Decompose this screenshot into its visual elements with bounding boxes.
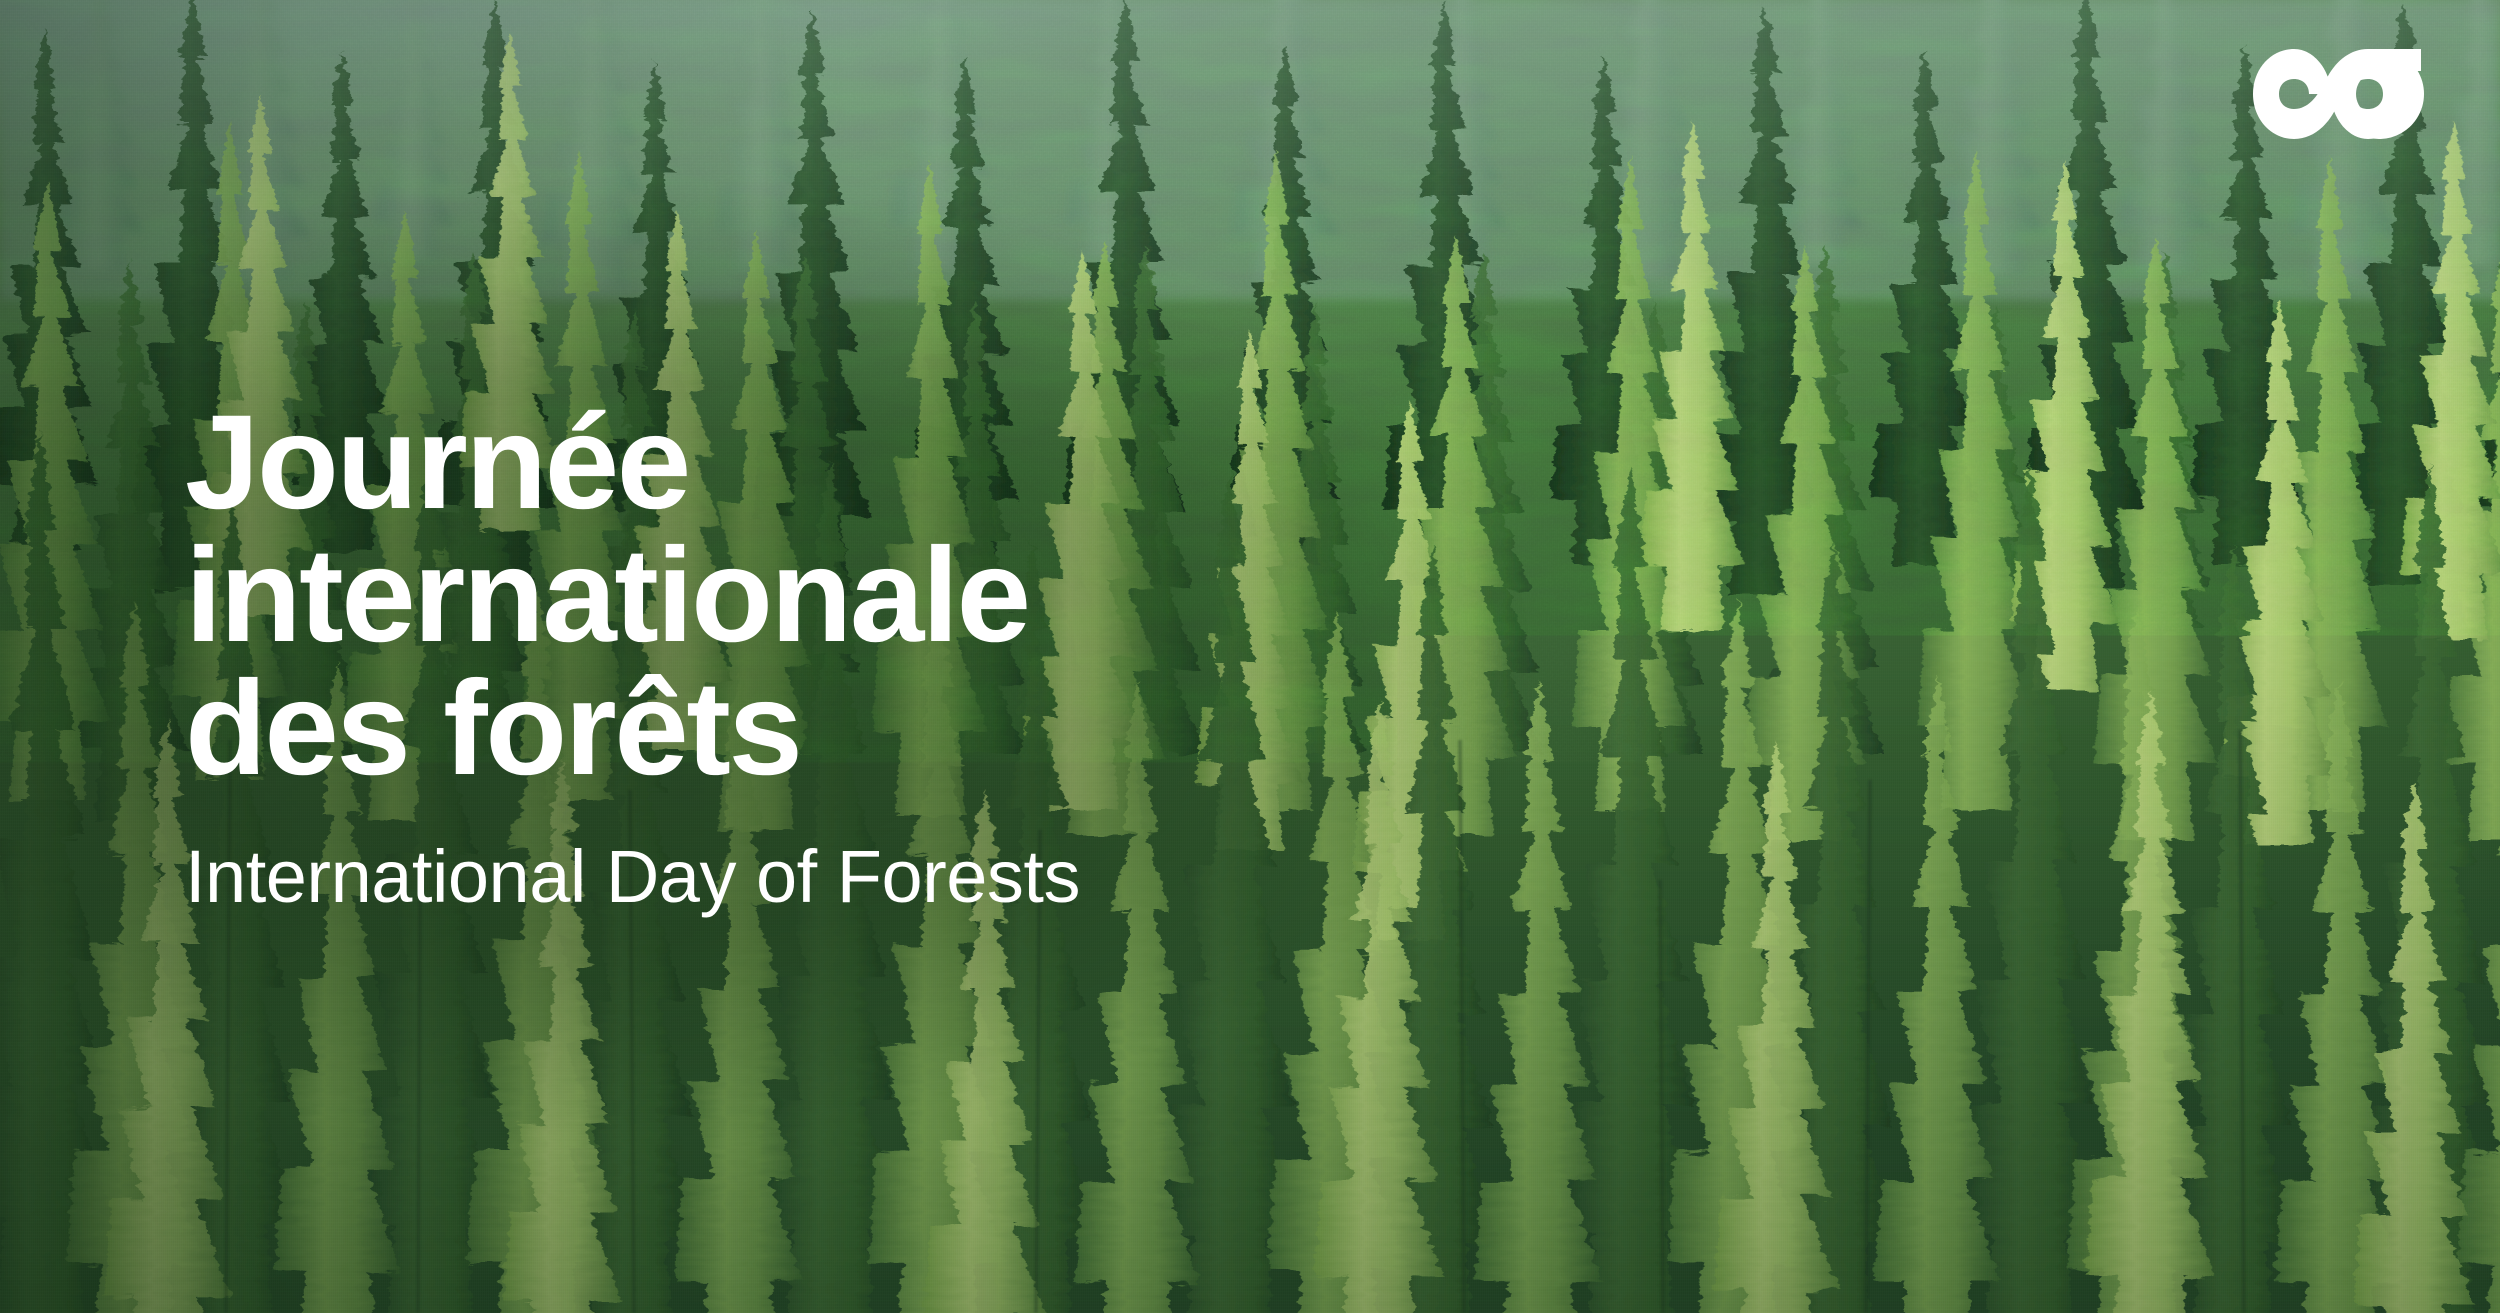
co-infinity-logo[interactable]: [2249, 38, 2435, 150]
subtitle: International Day of Forests: [185, 837, 1080, 917]
headline-line-3: des forêts: [185, 662, 1080, 795]
headline-line-2: internationale: [185, 529, 1080, 662]
headline-block: Journée internationale des forêts Intern…: [185, 396, 1080, 917]
headline-line-1: Journée: [185, 396, 1080, 529]
international-day-of-forests-banner: Journée internationale des forêts Intern…: [0, 0, 2500, 1313]
